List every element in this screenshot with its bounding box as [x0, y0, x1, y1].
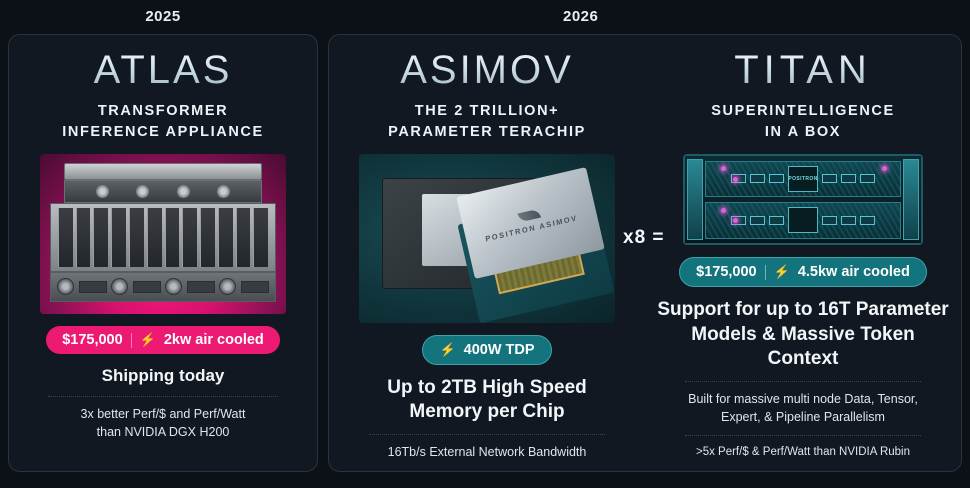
atlas-fineprint: 3x better Perf/$ and Perf/Watt than NVID… — [81, 405, 246, 441]
product-name-atlas: ATLAS — [94, 49, 233, 91]
badge-asimov-power: ⚡ 400W TDP — [422, 335, 551, 365]
rack-unit: POSITRON — [705, 161, 902, 197]
atlas-price: $175,000 — [62, 332, 122, 348]
multiplier-label: x8 = — [623, 227, 665, 249]
panel-atlas: ATLAS TRANSFORMER INFERENCE APPLIANCE — [9, 35, 317, 471]
rack-side-panel-right — [903, 159, 920, 241]
badge-titan-price-power: $175,000 ⚡ 4.5kw air cooled — [679, 257, 927, 287]
positron-logo-icon: POSITRON — [788, 166, 818, 192]
titan-power: 4.5kw air cooled — [798, 264, 910, 280]
badge-separator — [765, 265, 766, 280]
product-name-asimov: ASIMOV — [400, 49, 574, 91]
titan-fineprint-secondary: >5x Perf/$ & Perf/Watt than NVIDIA Rubin — [696, 444, 910, 461]
product-subtitle-titan: SUPERINTELLIGENCE IN A BOX — [711, 101, 895, 142]
titan-rack-render: POSITRON — [683, 154, 923, 245]
atlas-headline: Shipping today — [102, 365, 225, 387]
divider — [369, 434, 606, 435]
lightning-bolt-icon: ⚡ — [140, 332, 156, 348]
panel-titan: x8 = TITAN SUPERINTELLIGENCE IN A BOX PO… — [645, 35, 961, 471]
titan-fineprint: Built for massive multi node Data, Tenso… — [688, 390, 918, 426]
slide-canvas: 2025 2026 ATLAS TRANSFORMER INFERENCE AP… — [0, 0, 970, 488]
divider — [685, 435, 922, 436]
rack-side-panel-left — [687, 159, 704, 241]
rack-telemetry-display — [788, 207, 818, 233]
asimov-headline: Up to 2TB High Speed Memory per Chip — [387, 376, 587, 425]
lightning-bolt-icon: ⚡ — [439, 342, 455, 358]
titan-headline: Support for up to 16T Parameter Models &… — [655, 298, 951, 372]
product-subtitle-asimov: THE 2 TRILLION+ PARAMETER TERACHIP — [388, 101, 586, 142]
atlas-server-chassis-photo — [40, 154, 286, 314]
badge-separator — [131, 333, 132, 348]
product-card-2026[interactable]: ASIMOV THE 2 TRILLION+ PARAMETER TERACHI… — [328, 34, 962, 472]
year-label-2026: 2026 — [178, 8, 970, 25]
product-card-atlas[interactable]: ATLAS TRANSFORMER INFERENCE APPLIANCE — [8, 34, 318, 472]
asimov-terachip-render: POSITRON ASIMOV — [359, 154, 615, 322]
lightning-bolt-icon: ⚡ — [774, 264, 790, 280]
atlas-power: 2kw air cooled — [164, 332, 264, 348]
rack-unit — [705, 202, 902, 238]
asimov-power: 400W TDP — [464, 342, 535, 358]
panel-asimov: ASIMOV THE 2 TRILLION+ PARAMETER TERACHI… — [329, 35, 645, 471]
divider — [685, 381, 922, 382]
product-subtitle-atlas: TRANSFORMER INFERENCE APPLIANCE — [62, 101, 263, 142]
asimov-fineprint: 16Tb/s External Network Bandwidth — [388, 443, 587, 461]
divider — [48, 396, 278, 397]
badge-atlas-price-power: $175,000 ⚡ 2kw air cooled — [46, 326, 280, 354]
titan-price: $175,000 — [696, 264, 756, 280]
product-name-titan: TITAN — [734, 49, 872, 91]
